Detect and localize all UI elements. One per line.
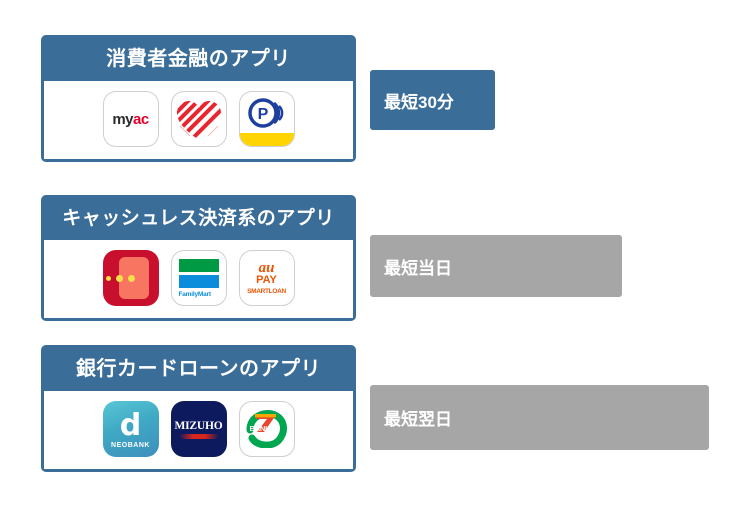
duration-bar-bank-loan: 最短翌日 bbox=[370, 385, 709, 450]
svg-text:P: P bbox=[257, 106, 268, 123]
category-title-cashless: キャッシュレス決済系のアプリ bbox=[44, 198, 353, 240]
mercari-dots bbox=[106, 275, 135, 282]
promise-p-icon: P bbox=[247, 96, 287, 135]
duration-bar-cashless: 最短当日 bbox=[370, 235, 622, 297]
category-card-cashless: キャッシュレス決済系のアプリ FamilyMart au PAY SMARTLO… bbox=[41, 195, 356, 321]
duration-label-consumer-finance: 最短30分 bbox=[384, 88, 454, 113]
category-title-consumer-finance: 消費者金融のアプリ bbox=[44, 38, 353, 81]
app-icon-aupay[interactable]: au PAY SMARTLOAN bbox=[239, 250, 295, 306]
app-icon-row-cashless: FamilyMart au PAY SMARTLOAN bbox=[44, 240, 353, 318]
duration-bar-consumer-finance: 最短30分 bbox=[370, 70, 495, 130]
category-title-bank-loan: 銀行カードローンのアプリ bbox=[44, 348, 353, 391]
category-card-bank-loan: 銀行カードローンのアプリ d NEOBANK MIZUHO BANK bbox=[41, 345, 356, 472]
app-icon-mobit[interactable] bbox=[171, 91, 227, 147]
app-icon-mizuho[interactable]: MIZUHO bbox=[171, 401, 227, 457]
mizuho-wordmark: MIZUHO bbox=[175, 420, 223, 432]
duration-label-cashless: 最短当日 bbox=[384, 254, 452, 279]
d-neobank-letter: d bbox=[120, 411, 141, 441]
d-neobank-label: NEOBANK bbox=[111, 442, 150, 449]
promise-yellow-band bbox=[240, 133, 294, 146]
aupay-smartloan-text: SMARTLOAN bbox=[247, 288, 286, 295]
seven-bank-mark: BANK bbox=[246, 410, 288, 448]
seven-bank-label: BANK bbox=[250, 424, 271, 433]
mizuho-swoosh bbox=[179, 434, 219, 439]
familymart-bars: FamilyMart bbox=[179, 259, 219, 298]
aupay-pay-text: PAY bbox=[256, 275, 277, 287]
category-card-consumer-finance: 消費者金融のアプリ myac bbox=[41, 35, 356, 162]
app-icon-mercari[interactable] bbox=[103, 250, 159, 306]
myac-text-ac: ac bbox=[133, 111, 149, 128]
mobit-heart-icon bbox=[171, 92, 227, 146]
infographic-root: 消費者金融のアプリ myac bbox=[0, 0, 750, 515]
app-icon-seven-bank[interactable]: BANK bbox=[239, 401, 295, 457]
app-icon-row-consumer-finance: myac bbox=[44, 81, 353, 159]
aupay-au-text: au bbox=[259, 261, 275, 275]
app-icon-familymart[interactable]: FamilyMart bbox=[171, 250, 227, 306]
app-icon-myac[interactable]: myac bbox=[103, 91, 159, 147]
app-icon-promise[interactable]: P bbox=[239, 91, 295, 147]
duration-label-bank-loan: 最短翌日 bbox=[384, 405, 452, 430]
app-icon-row-bank-loan: d NEOBANK MIZUHO BANK bbox=[44, 391, 353, 469]
app-icon-d-neobank[interactable]: d NEOBANK bbox=[103, 401, 159, 457]
familymart-label: FamilyMart bbox=[179, 291, 219, 298]
myac-text-my: my bbox=[112, 111, 133, 128]
